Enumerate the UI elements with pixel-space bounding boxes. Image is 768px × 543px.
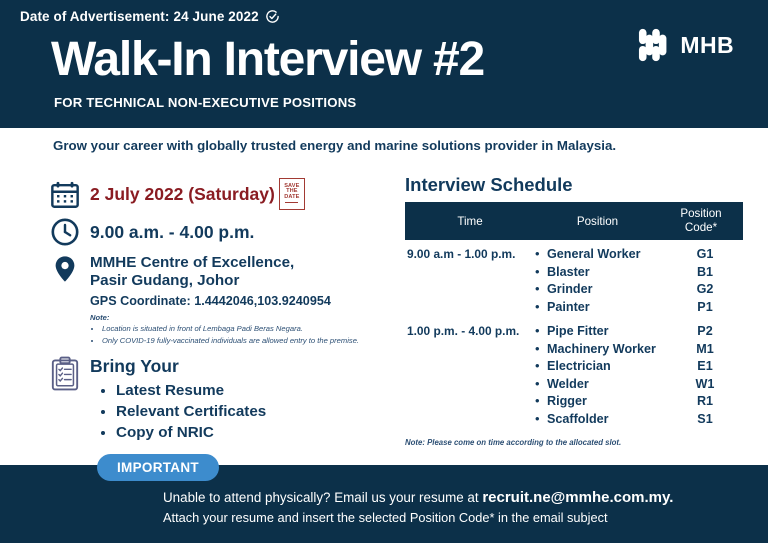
poster-root: Date of Advertisement: 24 June 2022 Walk… (0, 0, 768, 543)
important-badge: IMPORTANT (97, 454, 219, 481)
bullet-icon: • (535, 324, 547, 337)
column-header-time: Time (405, 215, 535, 228)
column-header-position-code: Position Code* (660, 207, 742, 234)
footer-line-2: Attach your resume and insert the select… (163, 510, 608, 525)
position-code: W1 (675, 377, 735, 391)
bring-your-title: Bring Your (90, 358, 266, 376)
position-row: • Scaffolder S1 (535, 412, 743, 426)
bring-item: Relevant Certificates (116, 402, 266, 423)
position-name: Rigger (547, 394, 675, 408)
position-row: • Pipe Fitter P2 (535, 324, 743, 338)
position-name: Scaffolder (547, 412, 675, 426)
bullet-icon: • (535, 359, 547, 372)
bring-your-list: Latest Resume Relevant Certificates Copy… (90, 381, 266, 444)
save-the-date-stamp: SAVE THE DATE (279, 178, 307, 212)
position-code: G1 (675, 247, 735, 261)
column-header-position: Position (535, 215, 660, 228)
event-time: 9.00 a.m. - 4.00 p.m. (90, 222, 254, 243)
event-location-row: MMHE Centre of Excellence, Pasir Gudang,… (50, 254, 390, 308)
map-pin-icon (50, 254, 80, 284)
venue-notes-list: Location is situated in front of Lembaga… (90, 324, 390, 347)
event-time-row: 9.00 a.m. - 4.00 p.m. (50, 217, 390, 247)
position-name: Pipe Fitter (547, 324, 675, 338)
bullet-icon: • (535, 300, 547, 313)
bring-item: Latest Resume (116, 381, 266, 402)
position-row: • Painter P1 (535, 300, 743, 314)
slot-time: 1.00 p.m. - 4.00 p.m. (405, 324, 535, 429)
venue-line-2: Pasir Gudang, Johor (90, 272, 239, 289)
schedule-slot: 1.00 p.m. - 4.00 p.m. • Pipe Fitter P2 •… (405, 324, 743, 429)
calendar-icon (50, 180, 80, 210)
verified-circle-icon (265, 9, 280, 24)
position-code: G2 (675, 282, 735, 296)
event-venue: MMHE Centre of Excellence, Pasir Gudang,… (90, 254, 331, 308)
position-row: • Grinder G2 (535, 282, 743, 296)
venue-note-item: Location is situated in front of Lembaga… (102, 324, 390, 335)
schedule-slot: 9.00 a.m - 1.00 p.m. • General Worker G1… (405, 247, 743, 317)
page-title: Walk-In Interview #2 (51, 36, 484, 84)
page-subtitle: FOR TECHNICAL NON-EXECUTIVE POSITIONS (54, 95, 356, 110)
position-row: • Machinery Worker M1 (535, 342, 743, 356)
position-name: General Worker (547, 247, 675, 261)
advertisement-date-label: Date of Advertisement: (20, 9, 169, 24)
advertisement-date: Date of Advertisement: 24 June 2022 (20, 9, 280, 24)
column-header-code-line1: Position (680, 207, 721, 220)
position-code: E1 (675, 359, 735, 373)
schedule-note: Note: Please come on time according to t… (405, 438, 743, 447)
position-name: Grinder (547, 282, 675, 296)
footer-line-1-prefix: Unable to attend physically? Email us yo… (163, 490, 482, 505)
position-row: • General Worker G1 (535, 247, 743, 261)
venue-line-1: MMHE Centre of Excellence, (90, 254, 294, 271)
bring-your-content: Bring Your Latest Resume Relevant Certif… (90, 356, 266, 444)
venue-note-item: Only COVID-19 fully-vaccinated individua… (102, 336, 390, 347)
position-code: P1 (675, 300, 735, 314)
bring-item: Copy of NRIC (116, 423, 266, 444)
position-row: • Electrician E1 (535, 359, 743, 373)
position-code: R1 (675, 394, 735, 408)
position-name: Machinery Worker (547, 342, 675, 356)
header-band: Date of Advertisement: 24 June 2022 Walk… (0, 0, 768, 128)
bullet-icon: • (535, 377, 547, 390)
gps-coordinate: GPS Coordinate: 1.4442046,103.9240954 (90, 294, 331, 308)
position-row: • Welder W1 (535, 377, 743, 391)
position-row: • Rigger R1 (535, 394, 743, 408)
schedule-table-header: Time Position Position Code* (405, 202, 743, 240)
brand-logo-text: MHB (680, 32, 734, 59)
event-date-row: 2 July 2022 (Saturday) SAVE THE DATE (50, 178, 390, 212)
schedule-title: Interview Schedule (405, 174, 743, 196)
position-code: M1 (675, 342, 735, 356)
contact-email[interactable]: recruit.ne@mmhe.com.my. (482, 489, 673, 506)
bullet-icon: • (535, 247, 547, 260)
venue-notes-heading: Note: (90, 313, 390, 322)
tagline: Grow your career with globally trusted e… (53, 138, 616, 153)
slot-positions: • General Worker G1 • Blaster B1 • Grind… (535, 247, 743, 317)
position-code: S1 (675, 412, 735, 426)
column-header-code-line2: Code* (685, 221, 717, 234)
advertisement-date-value: 24 June 2022 (173, 9, 258, 24)
position-name: Painter (547, 300, 675, 314)
bullet-icon: • (535, 412, 547, 425)
event-details: 2 July 2022 (Saturday) SAVE THE DATE (50, 178, 390, 444)
position-name: Blaster (547, 265, 675, 279)
position-code: P2 (675, 324, 735, 338)
slot-positions: • Pipe Fitter P2 • Machinery Worker M1 •… (535, 324, 743, 429)
mhb-logo-mark-icon (637, 27, 675, 63)
event-date: 2 July 2022 (Saturday) (90, 185, 275, 204)
position-name: Electrician (547, 359, 675, 373)
footer-contact: Unable to attend physically? Email us yo… (163, 487, 763, 527)
interview-schedule: Interview Schedule Time Position Positio… (405, 174, 743, 447)
bullet-icon: • (535, 282, 547, 295)
brand-logo: MHB (637, 27, 734, 63)
bullet-icon: • (535, 394, 547, 407)
clock-icon (50, 217, 80, 247)
slot-time: 9.00 a.m - 1.00 p.m. (405, 247, 535, 317)
stamp-line-3: DATE (284, 195, 299, 201)
position-row: • Blaster B1 (535, 265, 743, 279)
bullet-icon: • (535, 342, 547, 355)
position-name: Welder (547, 377, 675, 391)
clipboard-checklist-icon (50, 356, 80, 386)
bullet-icon: • (535, 265, 547, 278)
bring-your-section: Bring Your Latest Resume Relevant Certif… (50, 356, 390, 444)
venue-notes: Note: Location is situated in front of L… (90, 313, 390, 347)
position-code: B1 (675, 265, 735, 279)
